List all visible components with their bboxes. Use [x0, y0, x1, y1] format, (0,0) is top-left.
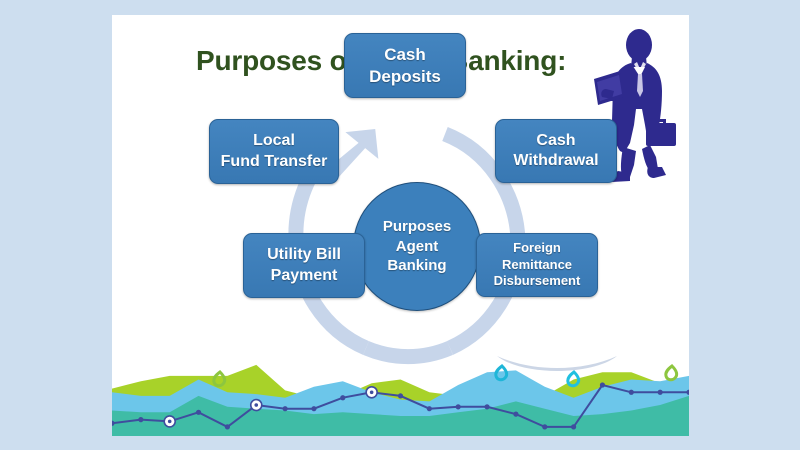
node-cash-deposits[interactable]: Cash Deposits [344, 33, 466, 98]
node-local-fund-transfer[interactable]: Local Fund Transfer [209, 119, 339, 184]
node-utility-bill-payment[interactable]: Utility Bill Payment [243, 233, 365, 298]
center-node-label: Purposes Agent Banking [383, 217, 451, 276]
node-utility-bill-label: Utility Bill Payment [267, 245, 341, 286]
node-cash-deposits-label: Cash Deposits [369, 44, 441, 88]
node-local-fund-label: Local Fund Transfer [221, 131, 328, 172]
slide-image: Purposes of Agent Banking: [0, 0, 800, 450]
decorative-chart-svg [112, 354, 689, 436]
slide-canvas: Purposes of Agent Banking: [112, 15, 689, 436]
node-cash-withdrawal[interactable]: Cash Withdrawal [495, 119, 617, 183]
decorative-chart-band [112, 354, 689, 436]
node-cash-withdrawal-label: Cash Withdrawal [513, 131, 598, 172]
node-foreign-remittance-disbursement[interactable]: Foreign Remittance Disbursement [476, 233, 598, 297]
node-foreign-remittance-label: Foreign Remittance Disbursement [494, 240, 581, 290]
center-node-purposes-agent-banking[interactable]: Purposes Agent Banking [353, 182, 481, 311]
